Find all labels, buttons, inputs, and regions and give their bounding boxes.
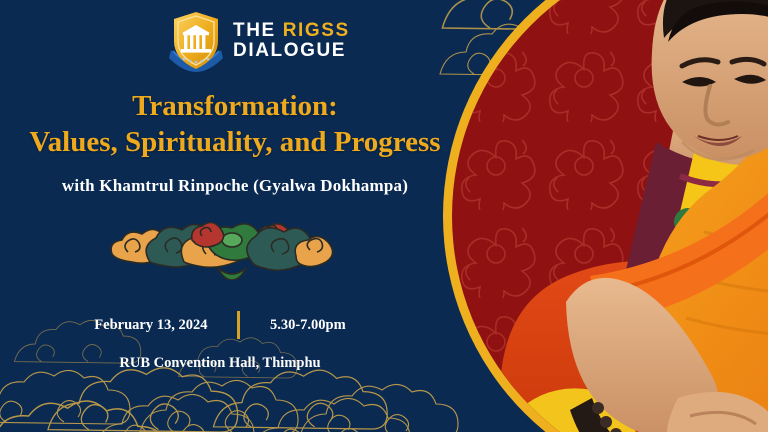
event-date: February 13, 2024 bbox=[94, 317, 207, 334]
event-title-line-1: Transformation: bbox=[132, 90, 338, 122]
event-time: 5.30-7.00pm bbox=[270, 317, 346, 334]
rigss-dialogue-logo: THE RIGSS DIALOGUE bbox=[168, 10, 350, 72]
event-venue: RUB Convention Hall, Thimphu bbox=[0, 355, 440, 372]
speaker-portrait bbox=[452, 0, 768, 432]
shield-columns-icon bbox=[168, 10, 224, 72]
event-poster: THE RIGSS DIALOGUE Transformation: Value… bbox=[0, 0, 768, 432]
logo-wordmark: THE RIGSS DIALOGUE bbox=[233, 21, 350, 61]
logo-dialogue: DIALOGUE bbox=[233, 41, 350, 61]
event-title-line-2: Values, Spirituality, and Progress bbox=[0, 124, 470, 160]
tibetan-cloud-ornament-icon bbox=[106, 222, 336, 280]
logo-rigss: RIGSS bbox=[283, 20, 350, 41]
datetime-divider bbox=[237, 311, 240, 339]
portrait-medallion bbox=[452, 0, 768, 432]
event-datetime-row: February 13, 2024 5.30-7.00pm bbox=[0, 311, 440, 339]
event-title: Transformation: Values, Spirituality, an… bbox=[0, 88, 470, 161]
event-speaker: with Khamtrul Rinpoche (Gyalwa Dokhampa) bbox=[0, 176, 470, 196]
logo-the: THE bbox=[233, 20, 283, 41]
logo-line-one: THE RIGSS bbox=[233, 21, 350, 41]
